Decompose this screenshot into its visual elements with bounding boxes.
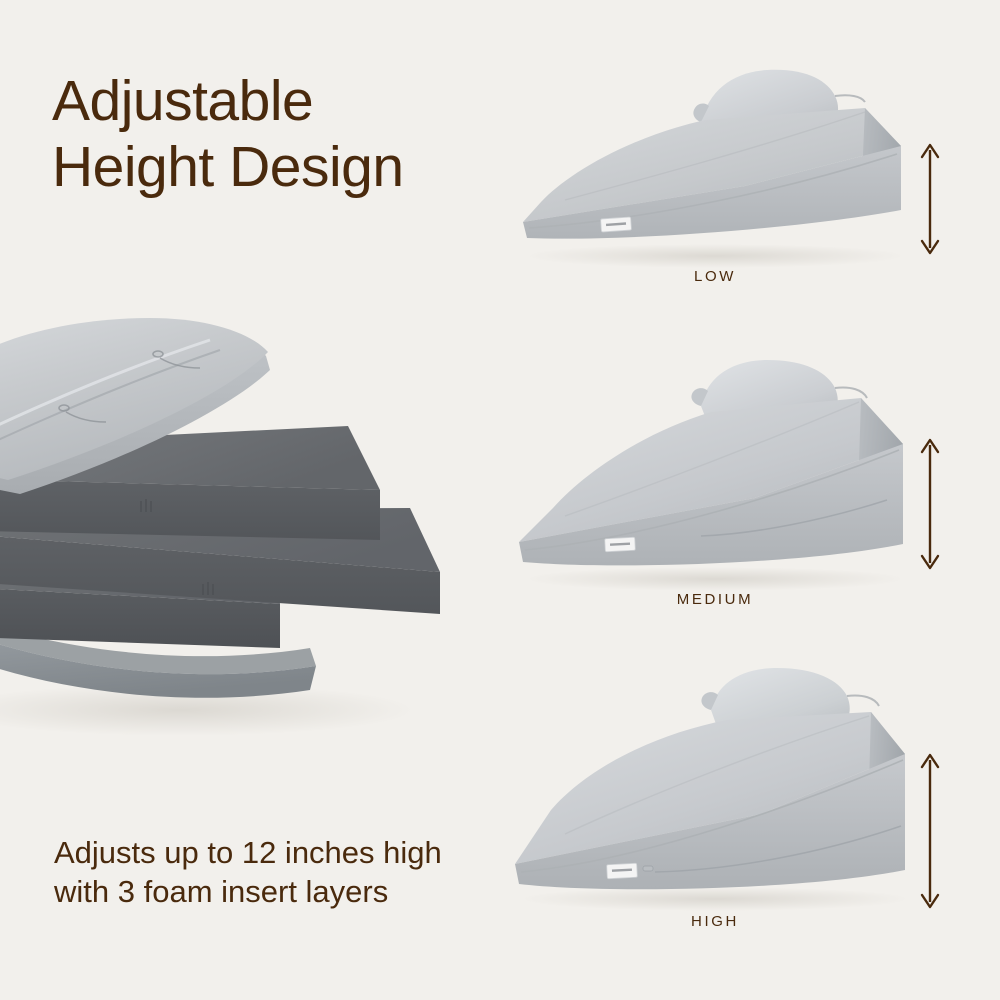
wedge-illustration-low: LOW — [505, 50, 925, 265]
pillow-seam-high — [847, 695, 879, 706]
infographic-canvas: Adjustable Height Design Adjusts up to 1… — [0, 0, 1000, 1000]
wedge-label-high: HIGH — [565, 913, 865, 930]
wedge-shadow-medium — [525, 567, 905, 591]
wedge-shadow-low — [525, 244, 905, 268]
wedge-label-medium: MEDIUM — [565, 591, 865, 608]
wedge-label-low: LOW — [565, 268, 865, 285]
foam-stack-illustration — [0, 318, 480, 738]
pillow-seam-low — [835, 95, 865, 102]
wedge-illustration-high: HIGH — [505, 668, 925, 908]
zipper-pull-icon-high — [643, 866, 653, 871]
brand-tag-high — [607, 863, 638, 879]
caption-text: Adjusts up to 12 inches high with 3 foam… — [54, 833, 524, 912]
brand-tag-low — [601, 217, 632, 232]
pillow-seam-medium — [835, 387, 867, 398]
height-arrow-high — [915, 750, 945, 912]
brand-tag-medium — [605, 537, 636, 552]
wedge-illustration-medium: MEDIUM — [505, 358, 925, 588]
height-arrow-medium — [915, 435, 945, 573]
wedge-shadow-high — [520, 887, 910, 911]
height-arrow-low — [915, 140, 945, 258]
page-title: Adjustable Height Design — [52, 68, 572, 200]
